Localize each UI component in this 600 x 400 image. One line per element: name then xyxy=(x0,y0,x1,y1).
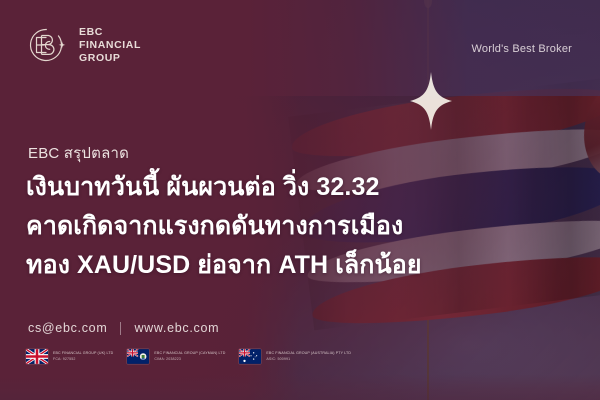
brand-name-line-1: EBC xyxy=(79,26,141,39)
licence-strip: EBC FINANCIAL GROUP (UK) LTD FCA: 927552 xyxy=(26,349,351,364)
uk-flag-icon xyxy=(26,349,48,364)
headline-line-3: ทอง XAU/USD ย่อจาก ATH เล็กน้อย xyxy=(26,246,426,285)
licence-registration-australia: ASIC: 500991 xyxy=(266,357,351,362)
contact-divider xyxy=(120,322,121,335)
licence-text-cayman: EBC FINANCIAL GROUP (CAYMAN) LTD CIMA: 2… xyxy=(154,351,225,362)
brand-name-line-2: FINANCIAL xyxy=(79,39,141,52)
licence-registration-uk: FCA: 927552 xyxy=(53,357,113,362)
ebc-circular-monogram-logo xyxy=(26,24,68,66)
licence-entity-australia: EBC FINANCIAL GROUP (AUSTRALIA) PTY LTD xyxy=(266,351,351,356)
contact-bar: cs@ebc.com www.ebc.com xyxy=(28,321,219,335)
brand-lockup: EBC FINANCIAL GROUP xyxy=(26,24,141,66)
licence-text-uk: EBC FINANCIAL GROUP (UK) LTD FCA: 927552 xyxy=(53,351,113,362)
contact-website[interactable]: www.ebc.com xyxy=(134,321,219,335)
contact-email[interactable]: cs@ebc.com xyxy=(28,321,107,335)
market-summary-banner: EBC FINANCIAL GROUP World's Best Broker … xyxy=(0,0,600,400)
headline-line-2: คาดเกิดจากแรงกดดันทางการเมือง xyxy=(26,207,426,246)
australia-flag-icon xyxy=(239,349,261,364)
licence-item-uk: EBC FINANCIAL GROUP (UK) LTD FCA: 927552 xyxy=(26,349,113,364)
cayman-islands-flag-icon xyxy=(127,349,149,364)
licence-item-australia: EBC FINANCIAL GROUP (AUSTRALIA) PTY LTD … xyxy=(239,349,351,364)
licence-text-australia: EBC FINANCIAL GROUP (AUSTRALIA) PTY LTD … xyxy=(266,351,351,362)
headline: เงินบาทวันนี้ ผันผวนต่อ วิ่ง 32.32 คาดเก… xyxy=(26,168,426,285)
headline-line-1: เงินบาทวันนี้ ผันผวนต่อ วิ่ง 32.32 xyxy=(26,168,426,207)
eyebrow-label: EBC สรุปตลาด xyxy=(28,141,129,165)
licence-registration-cayman: CIMA: 2038223 xyxy=(154,357,225,362)
brand-tagline: World's Best Broker xyxy=(472,43,572,55)
licence-item-cayman: EBC FINANCIAL GROUP (CAYMAN) LTD CIMA: 2… xyxy=(127,349,225,364)
licence-entity-cayman: EBC FINANCIAL GROUP (CAYMAN) LTD xyxy=(154,351,225,356)
licence-entity-uk: EBC FINANCIAL GROUP (UK) LTD xyxy=(53,351,113,356)
brand-name-line-3: GROUP xyxy=(79,52,141,65)
banner-content: EBC FINANCIAL GROUP World's Best Broker … xyxy=(0,0,600,400)
brand-name: EBC FINANCIAL GROUP xyxy=(79,26,141,65)
